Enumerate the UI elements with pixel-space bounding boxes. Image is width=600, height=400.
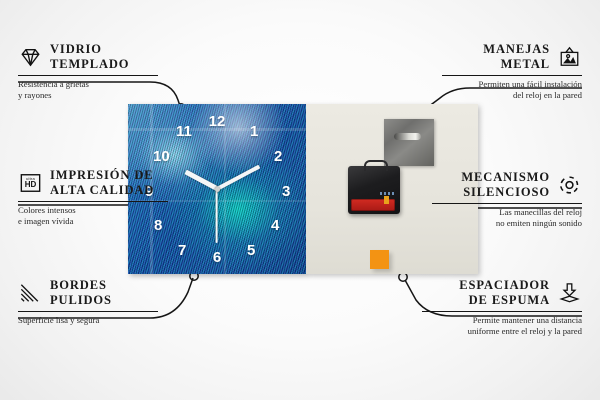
callout-title: ESPACIADOR DE ESPUMA bbox=[459, 278, 550, 308]
callout-desc-line1: Las manecillas del reloj bbox=[432, 207, 582, 218]
callout-rule bbox=[422, 311, 582, 312]
clock-numeral-1: 1 bbox=[250, 124, 258, 139]
callout-title-line2: PULIDOS bbox=[50, 293, 112, 308]
callout-title-line2: TEMPLADO bbox=[50, 57, 129, 72]
callout-description: Las manecillas del reloj no emiten ningú… bbox=[432, 207, 582, 230]
callout-desc-line2: no emiten ningún sonido bbox=[432, 218, 582, 229]
callout-title: MECANISMO SILENCIOSO bbox=[461, 170, 550, 200]
callout-title-line1: ESPACIADOR bbox=[459, 278, 550, 293]
callout-header: ultra HD IMPRESIÓN DE ALTA CALIDAD bbox=[18, 168, 168, 198]
callout-rule bbox=[18, 201, 168, 202]
picture-frame-hook-icon bbox=[557, 46, 582, 68]
clock-numeral-6: 6 bbox=[213, 250, 221, 265]
callout-header: ESPACIADOR DE ESPUMA bbox=[422, 278, 582, 308]
callout-desc-line2: e imagen vívida bbox=[18, 216, 168, 227]
callout-header: BORDES PULIDOS bbox=[18, 278, 158, 308]
callout-rule bbox=[18, 311, 158, 312]
callout-title-line1: VIDRIO bbox=[50, 42, 129, 57]
diamond-icon bbox=[18, 46, 43, 68]
callout-description: Permiten una fácil instalación del reloj… bbox=[442, 79, 582, 102]
clock-numeral-10: 10 bbox=[153, 149, 170, 164]
callout-title: VIDRIO TEMPLADO bbox=[50, 42, 129, 72]
callout-desc-line1: Permite mantener una distancia bbox=[422, 315, 582, 326]
callout-title-line1: IMPRESIÓN DE bbox=[50, 168, 154, 183]
callout-title-line2: METAL bbox=[483, 57, 550, 72]
callout-title-line1: BORDES bbox=[50, 278, 112, 293]
callout-manejas-metal: MANEJAS METAL Permiten una fácil instala… bbox=[442, 42, 582, 101]
callout-title: IMPRESIÓN DE ALTA CALIDAD bbox=[50, 168, 154, 198]
gear-icon bbox=[557, 174, 582, 196]
callout-title-line1: MANEJAS bbox=[483, 42, 550, 57]
callout-title: MANEJAS METAL bbox=[483, 42, 550, 72]
callout-title-line2: SILENCIOSO bbox=[461, 185, 550, 200]
callout-desc-line1: Colores intensos bbox=[18, 205, 168, 216]
foam-spacer-arrow-icon bbox=[557, 282, 582, 304]
polished-edge-icon bbox=[18, 282, 43, 304]
infographic-canvas: 12 1 2 3 4 5 6 7 8 9 10 11 bbox=[0, 0, 600, 400]
callout-rule bbox=[432, 203, 582, 204]
clock-numeral-3: 3 bbox=[282, 184, 290, 199]
clock-numeral-4: 4 bbox=[271, 218, 279, 233]
callout-title: BORDES PULIDOS bbox=[50, 278, 112, 308]
clock-numeral-7: 7 bbox=[178, 243, 186, 258]
callout-rule bbox=[18, 75, 158, 76]
callout-desc-line2: del reloj en la pared bbox=[442, 90, 582, 101]
callout-rule bbox=[442, 75, 582, 76]
battery-strip bbox=[351, 199, 395, 211]
callout-description: Resistencia a grietas y rayones bbox=[18, 79, 158, 102]
clock-numeral-11: 11 bbox=[176, 124, 192, 139]
callout-desc-line1: Permiten una fácil instalación bbox=[442, 79, 582, 90]
movement-label bbox=[380, 192, 396, 195]
callout-title-line1: MECANISMO bbox=[461, 170, 550, 185]
foam-spacer-square bbox=[370, 250, 389, 269]
ultra-hd-icon: ultra HD bbox=[18, 172, 43, 194]
movement-hook bbox=[364, 160, 388, 171]
connector-dot-espaciador bbox=[399, 273, 407, 281]
clock-numeral-12: 12 bbox=[209, 114, 226, 129]
clock-second-hand bbox=[216, 189, 218, 243]
callout-desc-line1: Superficie lisa y segura bbox=[18, 315, 158, 326]
callout-desc-line2: y rayones bbox=[18, 90, 158, 101]
callout-mecanismo-silencioso: MECANISMO SILENCIOSO Las manecillas del … bbox=[432, 170, 582, 229]
quartz-movement-box bbox=[348, 166, 400, 214]
ultra-hd-icon-bottom-text: HD bbox=[25, 181, 37, 189]
callout-bordes-pulidos: BORDES PULIDOS Superficie lisa y segura bbox=[18, 278, 158, 326]
callout-impresion-alta-calidad: ultra HD IMPRESIÓN DE ALTA CALIDAD Color… bbox=[18, 168, 168, 227]
product-photo: 12 1 2 3 4 5 6 7 8 9 10 11 bbox=[128, 104, 478, 274]
callout-desc-line1: Resistencia a grietas bbox=[18, 79, 158, 90]
callout-espaciador-espuma: ESPACIADOR DE ESPUMA Permite mantener un… bbox=[422, 278, 582, 337]
callout-header: VIDRIO TEMPLADO bbox=[18, 42, 158, 72]
callout-description: Permite mantener una distancia uniforme … bbox=[422, 315, 582, 338]
clock-center-hub bbox=[215, 187, 220, 192]
metal-hanger-plate-icon bbox=[384, 119, 434, 166]
callout-title-line2: ALTA CALIDAD bbox=[50, 183, 154, 198]
clock-numeral-5: 5 bbox=[247, 243, 255, 258]
callout-description: Superficie lisa y segura bbox=[18, 315, 158, 326]
callout-title-line2: DE ESPUMA bbox=[459, 293, 550, 308]
callout-description: Colores intensos e imagen vívida bbox=[18, 205, 168, 228]
callout-header: MANEJAS METAL bbox=[442, 42, 582, 72]
hanger-slot bbox=[394, 133, 421, 140]
callout-header: MECANISMO SILENCIOSO bbox=[432, 170, 582, 200]
callout-desc-line2: uniforme entre el reloj y la pared bbox=[422, 326, 582, 337]
callout-vidrio-templado: VIDRIO TEMPLADO Resistencia a grietas y … bbox=[18, 42, 158, 101]
clock-numeral-2: 2 bbox=[274, 149, 282, 164]
